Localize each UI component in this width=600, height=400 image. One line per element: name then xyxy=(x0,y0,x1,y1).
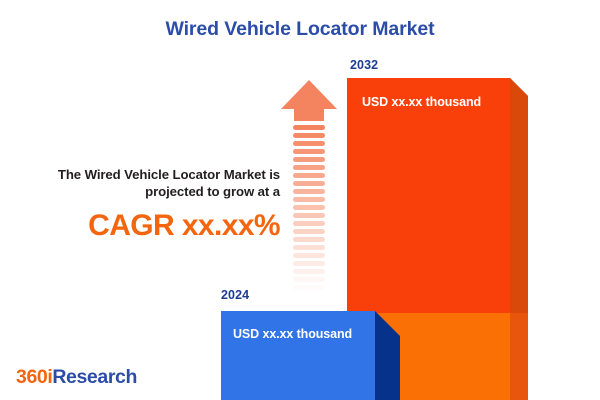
statement-line-1: The Wired Vehicle Locator Market is xyxy=(8,166,280,183)
arrow-rung xyxy=(293,285,325,290)
page-title: Wired Vehicle Locator Market xyxy=(0,18,600,41)
cagr-value: CAGR xx.xx% xyxy=(8,209,280,243)
arrow-rungs-group xyxy=(293,125,325,292)
brand-logo: 360iResearch xyxy=(16,366,137,389)
arrow-rung xyxy=(293,125,325,130)
arrow-rung xyxy=(293,205,325,210)
statement-line-2: projected to grow at a xyxy=(8,183,280,200)
arrow-rung xyxy=(293,133,325,138)
bar-2032-side-face-shadow xyxy=(510,78,528,313)
bar-label-2024: 2024 xyxy=(221,288,249,302)
logo-suffix: Research xyxy=(52,366,137,388)
arrow-rung xyxy=(293,261,325,266)
arrow-rung xyxy=(293,213,325,218)
arrow-rung xyxy=(293,229,325,234)
arrow-rung xyxy=(293,277,325,282)
arrow-rung xyxy=(293,173,325,178)
bar-2024-value: USD xx.xx thousand xyxy=(233,327,352,341)
arrow-rung xyxy=(293,237,325,242)
arrow-rung xyxy=(293,141,325,146)
statement-block: The Wired Vehicle Locator Market is proj… xyxy=(8,166,280,243)
arrow-rung xyxy=(293,149,325,154)
arrow-neck-icon xyxy=(294,109,324,121)
logo-prefix: 360i xyxy=(16,366,52,388)
arrow-rung xyxy=(293,221,325,226)
arrow-rung xyxy=(293,269,325,274)
bar-2032-front-face-shadow xyxy=(347,78,510,313)
arrow-rung xyxy=(293,189,325,194)
infographic-canvas: Wired Vehicle Locator Market The Wired V… xyxy=(0,0,600,400)
arrow-rung xyxy=(293,253,325,258)
bar-2032-value: USD xx.xx thousand xyxy=(362,95,481,109)
arrow-rung xyxy=(293,165,325,170)
arrow-rung xyxy=(293,245,325,250)
arrow-head-icon xyxy=(281,80,337,109)
bar-label-2032: 2032 xyxy=(350,58,378,72)
growth-arrow-icon xyxy=(281,80,337,292)
arrow-rung xyxy=(293,181,325,186)
bar-2024-front-face xyxy=(221,311,375,400)
arrow-rung xyxy=(293,197,325,202)
arrow-rung xyxy=(293,157,325,162)
